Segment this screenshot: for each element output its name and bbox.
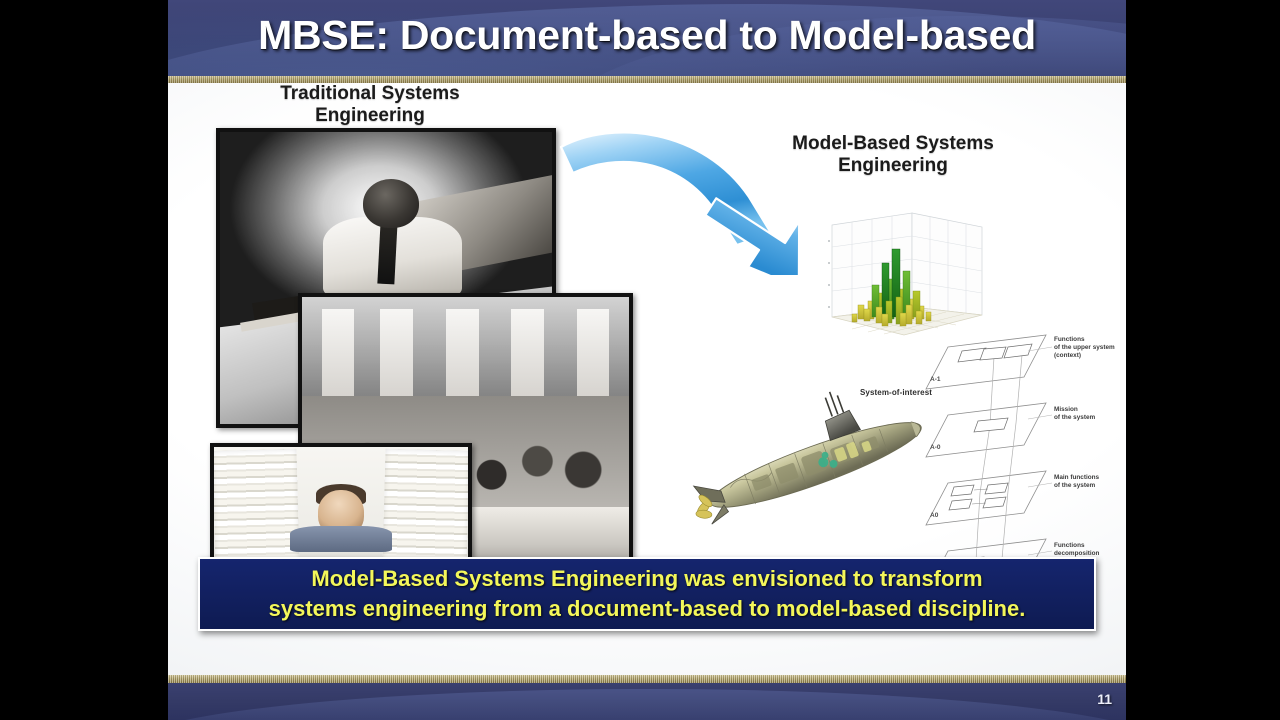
footer-sweep-decoration: [168, 689, 1126, 720]
photo-paper-stack-left: [212, 449, 299, 569]
submarine-cutaway-illustration: [688, 378, 938, 538]
layer-caption-2-line1: Mission: [1054, 406, 1078, 413]
photo-room-window-3: [446, 309, 479, 408]
layer-caption-4-line1: Functions: [1054, 542, 1085, 549]
slide-content-area: Traditional Systems Engineering Model-Ba…: [168, 83, 1126, 683]
slide-header-band: MBSE: Document-based to Model-based: [168, 0, 1126, 76]
layer-caption-3-line1: Main functions: [1054, 474, 1100, 481]
layer-caption-2-line2: of the system: [1054, 414, 1096, 421]
layer-caption-3-line2: of the system: [1054, 482, 1096, 489]
layered-functional-decomposition-diagram: A-1 A-0 A0 A2 Functions of the upper sys…: [916, 311, 1121, 596]
svg-text:A0: A0: [930, 512, 939, 519]
layer-caption-4-line2: decomposition: [1054, 550, 1100, 557]
photo-room-window-5: [577, 309, 610, 408]
photo-room-window-4: [511, 309, 544, 408]
layer-caption-1-line2: of the upper system: [1054, 344, 1115, 351]
traditional-se-label-line1: Traditional Systems: [220, 83, 520, 105]
svg-text:A-0: A-0: [930, 444, 941, 451]
photo-room-window-1: [322, 309, 355, 408]
traditional-se-label: Traditional Systems Engineering: [220, 83, 520, 128]
summary-caption-box: Model-Based Systems Engineering was envi…: [198, 557, 1096, 631]
caption-line-1: Model-Based Systems Engineering was envi…: [311, 564, 982, 594]
page-title: MBSE: Document-based to Model-based: [168, 12, 1126, 59]
caption-line-2: systems engineering from a document-base…: [269, 594, 1026, 624]
presentation-slide: MBSE: Document-based to Model-based Trad…: [168, 0, 1126, 720]
photo-paper-stack-right: [383, 449, 470, 569]
photo-room-window-2: [380, 309, 413, 408]
layer-caption-1-line1: Functions: [1054, 336, 1085, 343]
page-number: 11: [1097, 691, 1112, 707]
traditional-se-label-line2: Engineering: [220, 105, 520, 127]
footer-gold-rule: [168, 675, 1126, 683]
header-gold-rule: [168, 76, 1126, 83]
curved-transition-arrow-icon: [553, 115, 823, 275]
photo-person-arms-shape: [290, 526, 392, 552]
layer-caption-1-line3: (context): [1054, 352, 1081, 359]
slide-footer-band: 11: [168, 683, 1126, 720]
screen: MBSE: Document-based to Model-based Trad…: [0, 0, 1280, 720]
photo-engineer-head-shape: [363, 179, 419, 229]
svg-text:A-1: A-1: [930, 376, 941, 383]
